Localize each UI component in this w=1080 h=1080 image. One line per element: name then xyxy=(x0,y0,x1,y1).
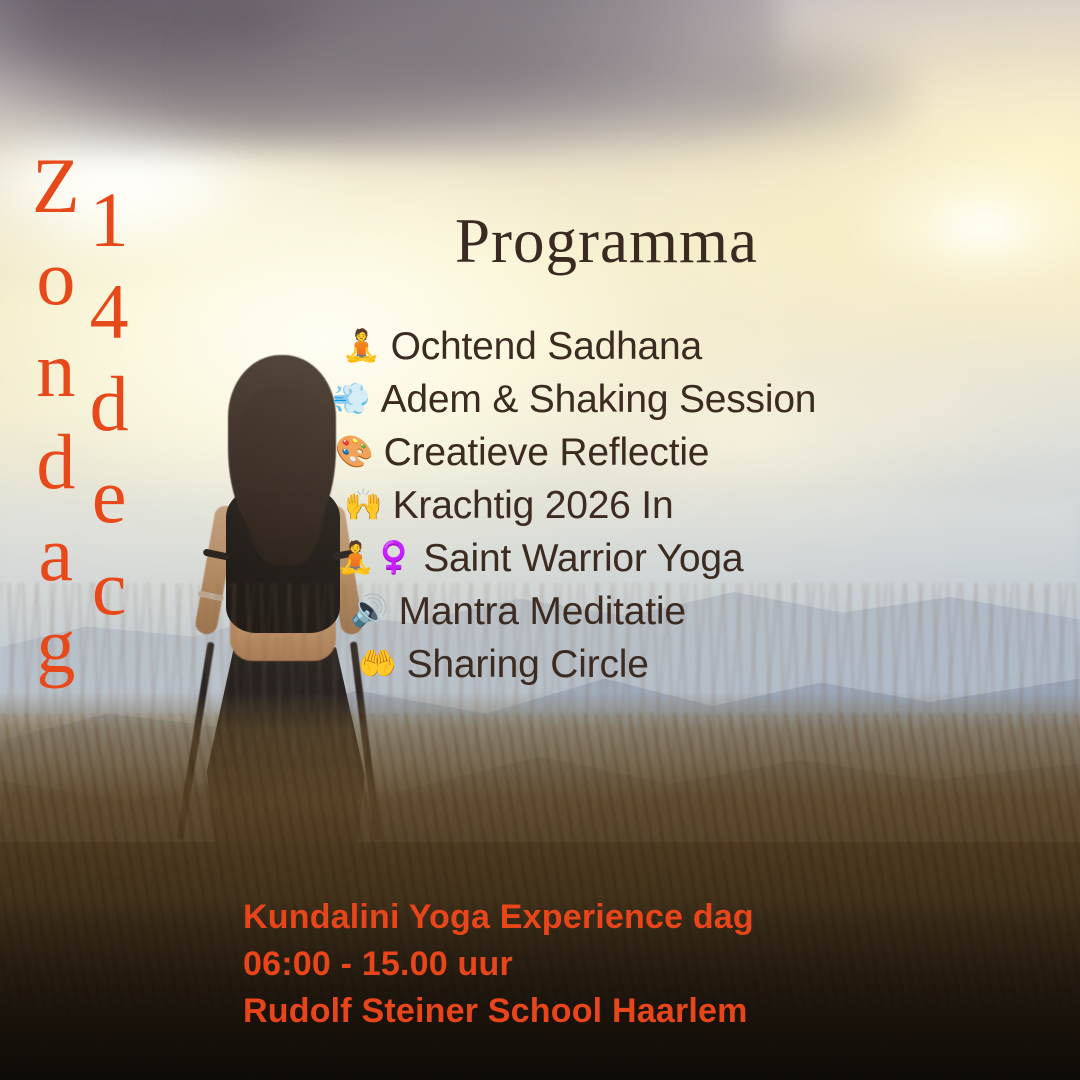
date-letter: n xyxy=(36,324,75,416)
date-letter: a xyxy=(39,508,74,600)
raising-hands-icon: 🙌 xyxy=(344,490,383,521)
event-details: Kundalini Yoga Experience dag 06:00 - 15… xyxy=(243,894,754,1035)
date-letter: Z xyxy=(32,140,80,232)
program-item: 🧘 Ochtend Sadhana xyxy=(342,320,816,373)
date-letter: 4 xyxy=(90,266,129,358)
program-item: 🔊 Mantra Meditatie xyxy=(350,585,816,638)
event-name: Kundalini Yoga Experience dag xyxy=(243,894,754,941)
program-item-label: Adem & Shaking Session xyxy=(381,378,817,422)
program-item-label: Krachtig 2026 In xyxy=(393,484,674,528)
program-item-label: Saint Warrior Yoga xyxy=(423,537,743,581)
program-item: 🎨 Creatieve Reflectie xyxy=(335,426,816,479)
date-column-daymonth: 1 4 d e c xyxy=(90,174,129,692)
program-list: 🧘 Ochtend Sadhana 💨 Adem & Shaking Sessi… xyxy=(332,320,816,691)
date-letter: c xyxy=(92,542,127,634)
date-letter: o xyxy=(36,232,75,324)
program-item-label: Sharing Circle xyxy=(407,643,649,687)
program-item: 💨 Adem & Shaking Session xyxy=(332,373,816,426)
event-location: Rudolf Steiner School Haarlem xyxy=(243,988,754,1035)
poster-content: Z o n d a g 1 4 d e c Programma 🧘 Ochten… xyxy=(0,0,1080,1080)
program-item-label: Mantra Meditatie xyxy=(399,590,686,634)
page-title: Programma xyxy=(455,205,758,278)
woman-lotus-position-icon: 🧘♀️ xyxy=(336,543,413,574)
date-letter: d xyxy=(36,416,75,508)
program-item-label: Ochtend Sadhana xyxy=(391,325,702,369)
person-lotus-position-icon: 🧘 xyxy=(342,331,381,362)
date-column-weekday: Z o n d a g xyxy=(32,140,80,692)
poster-canvas: Z o n d a g 1 4 d e c Programma 🧘 Ochten… xyxy=(0,0,1080,1080)
date-block: Z o n d a g 1 4 d e c xyxy=(32,140,129,692)
program-item: 🤲 Sharing Circle xyxy=(358,638,816,691)
date-letter: d xyxy=(90,358,129,450)
palms-up-together-icon: 🤲 xyxy=(358,649,397,680)
date-letter: g xyxy=(36,600,75,692)
artist-palette-icon: 🎨 xyxy=(335,437,374,468)
date-letter: e xyxy=(92,450,127,542)
dash-wind-icon: 💨 xyxy=(332,384,371,415)
date-letter: 1 xyxy=(90,174,129,266)
program-item: 🙌 Krachtig 2026 In xyxy=(344,479,816,532)
program-item: 🧘♀️ Saint Warrior Yoga xyxy=(336,532,816,585)
event-time: 06:00 - 15.00 uur xyxy=(243,941,754,988)
program-item-label: Creatieve Reflectie xyxy=(384,431,710,475)
speaker-high-volume-icon: 🔊 xyxy=(350,596,389,627)
